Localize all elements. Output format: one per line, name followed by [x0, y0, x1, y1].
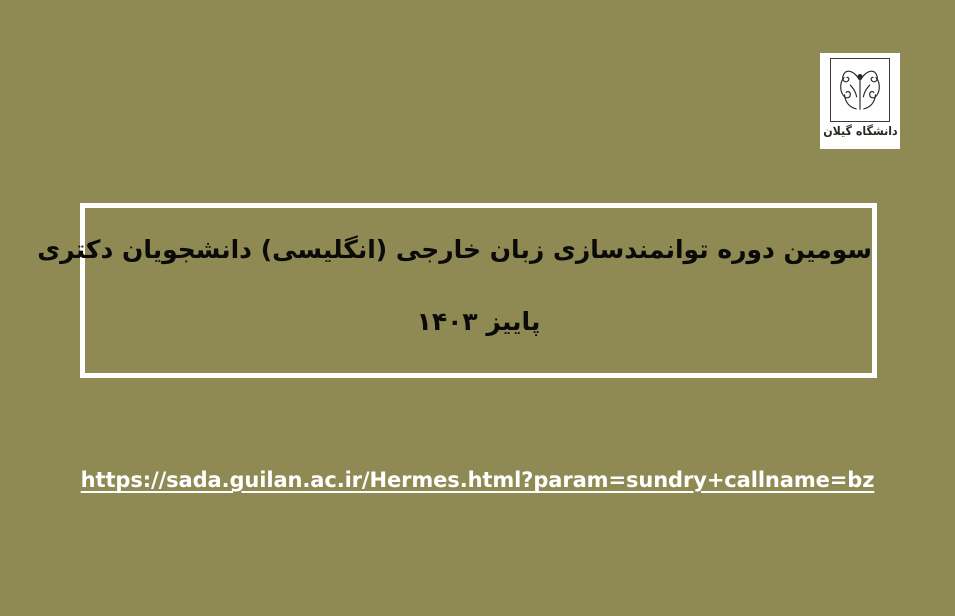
registration-url-link[interactable]: https://sada.guilan.ac.ir/Hermes.html?pa… — [81, 468, 875, 492]
university-logo: دانشگاه گیلان — [820, 53, 900, 149]
university-logo-caption: دانشگاه گیلان — [823, 125, 897, 137]
headline-primary: سومین دوره توانمندسازی زبان خارجی (انگلی… — [85, 234, 872, 265]
headline-frame: سومین دوره توانمندسازی زبان خارجی (انگلی… — [80, 203, 877, 378]
poster-canvas: دانشگاه گیلان سومین دوره توانمندسازی زبا… — [0, 0, 955, 616]
headline-term: پاییز ۱۴۰۳ — [85, 306, 872, 337]
registration-url-row: https://sada.guilan.ac.ir/Hermes.html?pa… — [0, 468, 955, 492]
university-emblem-icon — [830, 58, 890, 122]
